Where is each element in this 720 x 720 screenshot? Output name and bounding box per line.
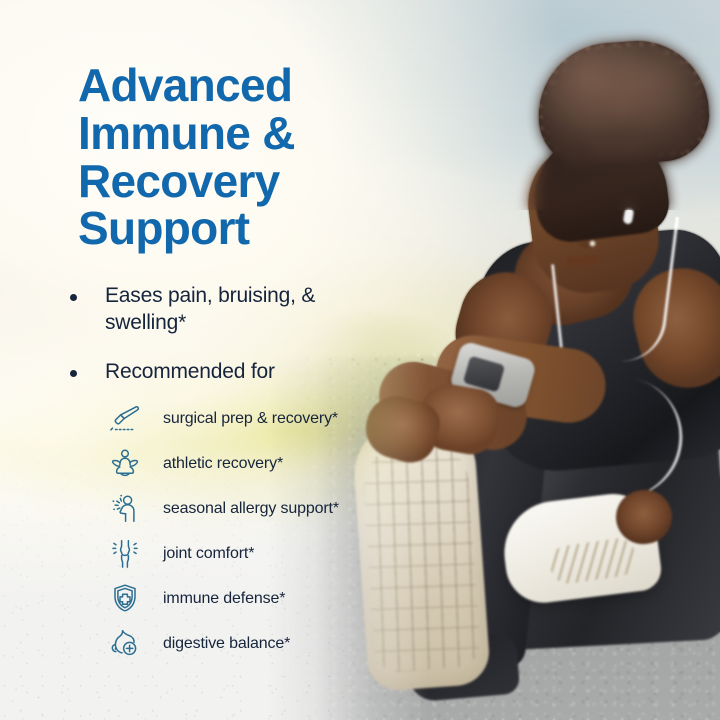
icon-label: athletic recovery*	[163, 455, 283, 473]
list-item: athletic recovery*	[100, 441, 420, 486]
bullet-text: Eases pain, bruising, & swelling*	[105, 283, 400, 337]
list-item: Recommended for	[70, 359, 400, 386]
knee-joint-icon	[100, 533, 150, 575]
icon-label: seasonal allergy support*	[163, 500, 339, 518]
sneezing-icon	[100, 488, 150, 530]
bullet-dot-icon	[70, 294, 77, 301]
page-title: Advanced Immune & Recovery Support	[78, 62, 408, 253]
scalpel-icon	[100, 398, 150, 440]
bullet-dot-icon	[70, 370, 77, 377]
shield-cross-icon	[100, 578, 150, 620]
list-item: immune defense*	[100, 576, 420, 621]
list-item: seasonal allergy support*	[100, 486, 420, 531]
list-item: digestive balance*	[100, 621, 420, 666]
icon-label: digestive balance*	[163, 635, 290, 653]
list-item: joint comfort*	[100, 531, 420, 576]
stomach-plus-icon	[100, 623, 150, 665]
promo-banner: Advanced Immune & Recovery Support Eases…	[0, 0, 720, 720]
icon-label: surgical prep & recovery*	[163, 410, 338, 428]
content-column: Advanced Immune & Recovery Support Eases…	[0, 0, 420, 720]
bullet-text: Recommended for	[105, 359, 275, 386]
icon-label: joint comfort*	[163, 545, 254, 563]
icon-label: immune defense*	[163, 590, 285, 608]
list-item: surgical prep & recovery*	[100, 396, 420, 441]
benefit-bullet-list: Eases pain, bruising, & swelling* Recomm…	[70, 283, 400, 408]
use-case-icon-list: surgical prep & recovery* athletic reco	[100, 396, 420, 666]
meditation-icon	[100, 443, 150, 485]
list-item: Eases pain, bruising, & swelling*	[70, 283, 400, 337]
